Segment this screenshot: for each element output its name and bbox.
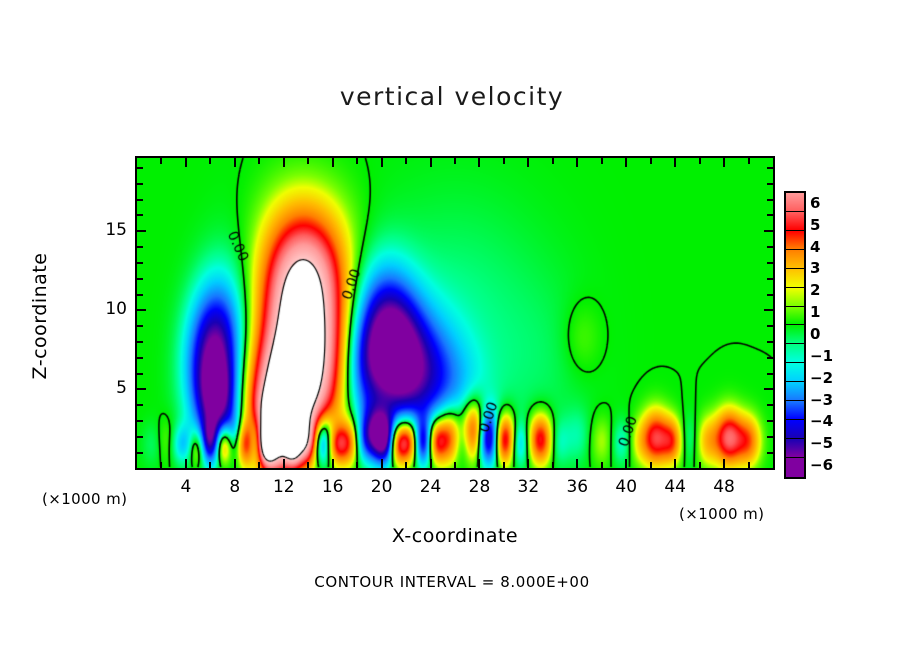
x-tick-mark [307,462,309,468]
colorbar-swatch[interactable] [786,269,804,288]
y-tick-mark [137,262,143,264]
y-tick-mark [767,167,773,169]
x-tick-mark [478,459,480,468]
colorbar-tick-label: −2 [810,369,833,387]
x-tick-mark [258,158,260,164]
x-tick-mark [209,158,211,164]
y-tick-mark [767,452,773,454]
y-tick-mark [137,309,146,311]
x-tick-mark [723,158,725,167]
x-tick-label: 28 [459,477,499,497]
y-tick-mark [767,436,773,438]
colorbar-tick-label: 6 [810,194,820,212]
y-tick-mark [137,325,143,327]
colorbar-swatch[interactable] [786,458,804,477]
colorbar-tick-label: 0 [810,325,820,343]
x-tick-mark [234,459,236,468]
x-tick-mark [576,459,578,468]
x-tick-mark [160,158,162,164]
x-tick-mark [356,158,358,164]
y-tick-mark [137,404,143,406]
y-tick-mark [137,452,143,454]
colorbar-tick-label: −3 [810,391,833,409]
x-tick-mark [601,158,603,164]
x-tick-mark [454,462,456,468]
x-tick-mark [381,459,383,468]
x-tick-mark [527,158,529,167]
colorbar-swatch[interactable] [786,439,804,458]
colorbar-swatch[interactable] [786,250,804,269]
x-tick-mark [503,158,505,164]
x-tick-label: 4 [166,477,206,497]
y-tick-mark [764,309,773,311]
x-tick-mark [503,462,505,468]
x-tick-label: 40 [606,477,646,497]
y-tick-mark [137,278,143,280]
colorbar-tick-label: −4 [810,412,833,430]
colorbar-swatch[interactable] [786,401,804,420]
x-tick-mark [552,158,554,164]
x-tick-mark [625,158,627,167]
x-tick-mark [527,459,529,468]
x-tick-label: 48 [704,477,744,497]
x-tick-mark [430,158,432,167]
y-tick-label: 10 [87,299,127,319]
x-tick-label: 44 [655,477,695,497]
y-tick-mark [767,278,773,280]
x-tick-mark [258,462,260,468]
colorbar-swatch[interactable] [786,307,804,326]
x-tick-mark [699,158,701,164]
x-tick-mark [307,158,309,164]
y-tick-mark [137,246,143,248]
colorbar-tick-label: −6 [810,456,833,474]
y-tick-mark [137,230,146,232]
x-tick-mark [356,462,358,468]
y-tick-mark [137,420,143,422]
x-tick-label: 12 [264,477,304,497]
x-tick-mark [650,462,652,468]
y-axis-title: Z-coordinate [29,216,51,416]
y-tick-mark [137,373,143,375]
y-tick-mark [137,388,146,390]
y-tick-mark [767,246,773,248]
colorbar-tick-label: 5 [810,216,820,234]
x-tick-mark [381,158,383,167]
x-tick-label: 16 [313,477,353,497]
page-title: vertical velocity [0,82,904,111]
x-tick-mark [674,158,676,167]
x-tick-mark [674,459,676,468]
colorbar[interactable] [784,191,806,479]
contour-interval-note: CONTOUR INTERVAL = 8.000E+00 [0,573,904,591]
x-tick-mark [699,462,701,468]
x-tick-mark [430,459,432,468]
x-tick-mark [576,158,578,167]
colorbar-swatch[interactable] [786,212,804,231]
y-tick-mark [767,420,773,422]
y-tick-mark [767,214,773,216]
y-tick-mark [767,373,773,375]
x-tick-label: 36 [557,477,597,497]
x-tick-mark [283,158,285,167]
y-tick-mark [767,199,773,201]
y-tick-mark [767,404,773,406]
x-tick-mark [160,462,162,468]
colorbar-swatch[interactable] [786,382,804,401]
y-tick-label: 5 [87,378,127,398]
colorbar-swatch[interactable] [786,325,804,344]
x-tick-mark [185,459,187,468]
colorbar-tick-label: 4 [810,238,820,256]
colorbar-swatch[interactable] [786,363,804,382]
x-tick-mark [209,462,211,468]
y-tick-mark [137,167,143,169]
y-tick-mark [137,199,143,201]
y-tick-mark [767,262,773,264]
x-tick-mark [332,158,334,167]
x-tick-mark [234,158,236,167]
x-tick-mark [748,158,750,164]
x-axis-right-unit-label: (×1000 m) [679,505,764,523]
x-tick-mark [748,462,750,468]
x-tick-label: 24 [411,477,451,497]
colorbar-tick-label: −5 [810,434,833,452]
y-tick-mark [767,357,773,359]
x-tick-mark [405,462,407,468]
y-tick-mark [137,294,143,296]
colorbar-swatch[interactable] [786,231,804,250]
y-tick-mark [137,183,143,185]
y-tick-mark [764,230,773,232]
x-tick-label: 8 [215,477,255,497]
x-tick-mark [625,459,627,468]
x-axis-left-unit-label: (×1000 m) [42,490,127,508]
heatmap-canvas [137,158,773,468]
x-tick-mark [723,459,725,468]
colorbar-tick-label: 1 [810,303,820,321]
x-tick-mark [552,462,554,468]
x-tick-mark [283,459,285,468]
x-tick-mark [332,459,334,468]
y-tick-mark [137,214,143,216]
colorbar-swatch[interactable] [786,344,804,363]
colorbar-swatch[interactable] [786,420,804,439]
y-tick-mark [137,436,143,438]
y-tick-mark [137,341,143,343]
y-tick-mark [764,388,773,390]
x-tick-mark [650,158,652,164]
x-tick-label: 32 [508,477,548,497]
x-tick-mark [454,158,456,164]
plot-area[interactable] [135,156,775,470]
colorbar-tick-label: −1 [810,347,833,365]
x-axis-title: X-coordinate [135,525,775,547]
x-tick-mark [185,158,187,167]
colorbar-tick-label: 2 [810,281,820,299]
y-tick-mark [767,341,773,343]
x-tick-label: 20 [362,477,402,497]
y-tick-mark [137,357,143,359]
colorbar-swatch[interactable] [786,193,804,212]
y-tick-label: 15 [87,220,127,240]
colorbar-tick-label: 3 [810,259,820,277]
y-tick-mark [767,183,773,185]
y-tick-mark [767,325,773,327]
y-tick-mark [767,294,773,296]
x-tick-mark [601,462,603,468]
x-tick-mark [405,158,407,164]
x-tick-mark [478,158,480,167]
colorbar-swatch[interactable] [786,288,804,307]
